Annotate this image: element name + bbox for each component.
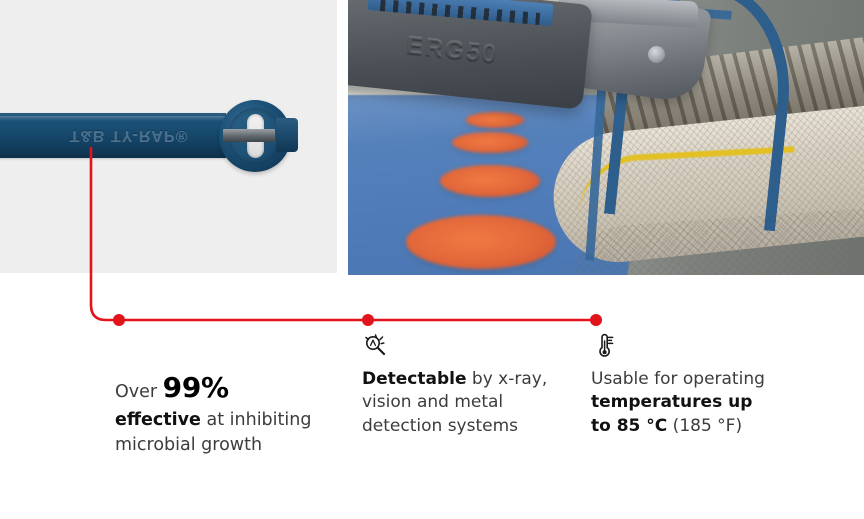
feature-3-line3-bold: to 85 °C [591, 416, 667, 436]
thermometer-icon [591, 332, 791, 362]
feature-temperature-text: Usable for operating temperatures up to … [591, 368, 791, 438]
feature-detectable: Detectable by x-ray, vision and metal de… [362, 332, 562, 438]
feature-3-line1: Usable for operating [591, 369, 765, 389]
feature-2-bold-lead: Detectable [362, 369, 467, 389]
feature-2-line2: vision and metal [362, 392, 503, 412]
cable-tie-tail [276, 118, 298, 152]
feature-1-line2-rest: at inhibiting [201, 410, 312, 430]
feature-1-line3: microbial growth [115, 435, 262, 455]
detection-magnifier-icon [362, 332, 562, 362]
cable-tie-panel: T&B TY-RAP® [0, 0, 337, 273]
feature-1-line2-bold: effective [115, 410, 201, 430]
infographic-stage: T&B TY-RAP® ERG50 [0, 0, 864, 519]
percent-badge-icon [115, 332, 330, 362]
feature-temperature: Usable for operating temperatures up to … [591, 332, 791, 438]
feature-2-line1-rest: by x-ray, [467, 369, 548, 389]
feature-list: Over 99% effective at inhibiting microbi… [0, 332, 864, 462]
pizza-base [466, 112, 524, 128]
cable-tie-metal-barb [223, 129, 275, 142]
feature-1-line1-prefix: Over [115, 382, 163, 402]
pizza-base [452, 132, 528, 153]
feature-antimicrobial-text: Over 99% effective at inhibiting microbi… [115, 368, 330, 457]
feature-antimicrobial: Over 99% effective at inhibiting microbi… [115, 332, 330, 457]
feature-detectable-text: Detectable by x-ray, vision and metal de… [362, 368, 562, 438]
application-photo: ERG50 [348, 0, 864, 275]
feature-3-line3-rest: (185 °F) [667, 416, 742, 436]
connector-dot-3 [590, 314, 602, 326]
connector-dot-2 [362, 314, 374, 326]
feature-1-highlight: 99% [163, 371, 229, 404]
connector-dot-1 [113, 314, 125, 326]
feature-2-line3: detection systems [362, 416, 518, 436]
cable-tie-emboss-text: T&B TY-RAP® [49, 122, 209, 144]
pizza-base [406, 215, 556, 269]
pizza-base [440, 165, 540, 197]
cable-tie-product-image: T&B TY-RAP® [0, 100, 304, 180]
feature-3-line2-bold: temperatures up [591, 392, 752, 412]
